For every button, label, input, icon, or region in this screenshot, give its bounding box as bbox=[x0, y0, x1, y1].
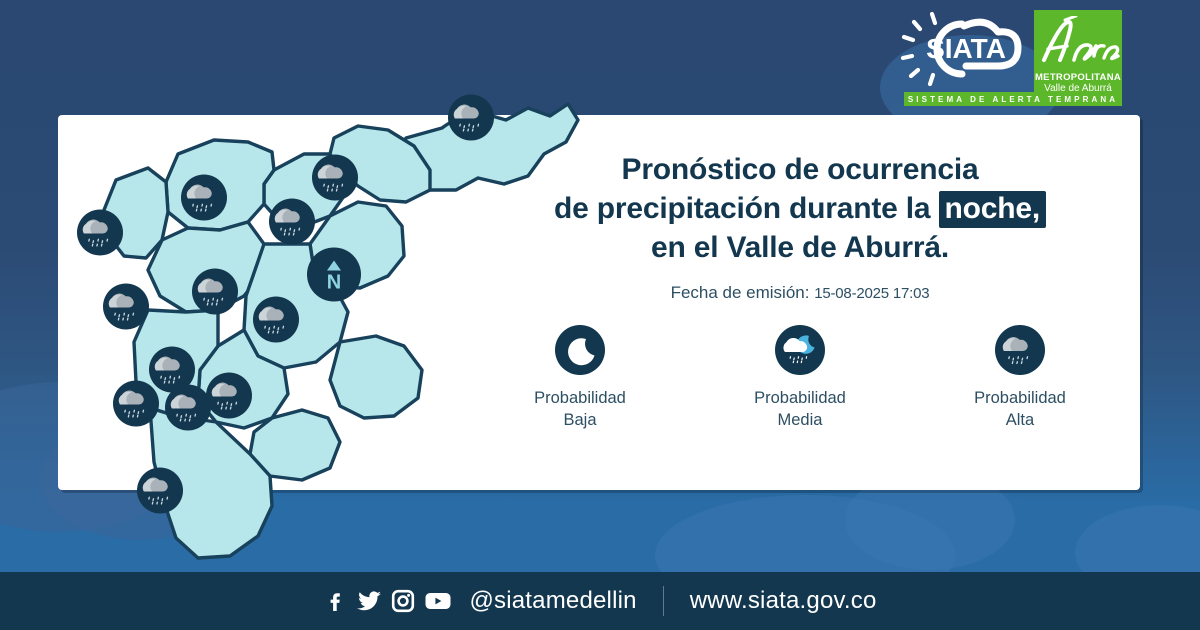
siata-tagline: SISTEMA DE ALERTA TEMPRANA bbox=[908, 95, 1118, 104]
issue-date-label: Fecha de emisión: bbox=[671, 283, 810, 302]
twitter-icon[interactable] bbox=[356, 589, 382, 613]
legend-item-alta: ProbabilidadAlta bbox=[910, 325, 1130, 431]
map-marker-barbosa[interactable] bbox=[448, 95, 494, 146]
map-marker-san-jeronimo[interactable] bbox=[77, 210, 123, 261]
area-line1: METROPOLITANA bbox=[1035, 72, 1121, 83]
siata-tagline-strip: SISTEMA DE ALERTA TEMPRANA bbox=[904, 92, 1122, 106]
social-icons bbox=[323, 589, 452, 613]
map-marker-girardota[interactable] bbox=[312, 155, 358, 206]
cloud-heavy-rain-icon bbox=[165, 385, 211, 431]
legend-item-baja: ProbabilidadBaja bbox=[470, 325, 690, 431]
legend-item-media: ProbabilidadMedia bbox=[690, 325, 910, 431]
social-handle[interactable]: @siatamedellin bbox=[469, 587, 636, 615]
headline-line2: de precipitación durante la noche, bbox=[470, 189, 1130, 228]
headline-block: Pronóstico de ocurrencia de precipitació… bbox=[470, 150, 1130, 303]
headline-highlight: noche, bbox=[939, 191, 1046, 228]
legend-label-alta: ProbabilidadAlta bbox=[974, 387, 1066, 431]
map-marker-ebejico[interactable] bbox=[103, 284, 149, 335]
map-marker-caldas[interactable] bbox=[137, 468, 183, 519]
cloud-heavy-rain-icon bbox=[253, 297, 299, 343]
footer-bar: @siatamedellin www.siata.gov.co bbox=[0, 572, 1200, 630]
north-label: N bbox=[327, 272, 341, 294]
cloud-heavy-rain-icon bbox=[448, 95, 494, 141]
legend-label-baja: ProbabilidadBaja bbox=[534, 387, 626, 431]
cloud-heavy-rain-icon bbox=[192, 269, 238, 315]
area-metropolitana-logo: METROPOLITANA Valle de Aburrá bbox=[1034, 10, 1122, 98]
legend-label-media: ProbabilidadMedia bbox=[754, 387, 846, 431]
instagram-icon[interactable] bbox=[391, 589, 415, 613]
map-marker-medellin[interactable] bbox=[253, 297, 299, 348]
map-marker-envigado[interactable] bbox=[206, 373, 252, 424]
facebook-icon[interactable] bbox=[323, 589, 347, 613]
footer-divider bbox=[663, 586, 664, 616]
cloud-heavy-rain-icon bbox=[113, 381, 159, 427]
website-url[interactable]: www.siata.gov.co bbox=[690, 587, 877, 615]
issue-date: Fecha de emisión: 15-08-2025 17:03 bbox=[470, 283, 1130, 303]
page-title: Pronóstico de ocurrencia de precipitació… bbox=[470, 150, 1130, 267]
cloud-heavy-rain-icon bbox=[77, 210, 123, 256]
issue-date-value: 15-08-2025 17:03 bbox=[814, 285, 929, 302]
map-marker-sabaneta[interactable] bbox=[165, 385, 211, 436]
siata-logo: SIATA bbox=[900, 10, 1028, 88]
cloud-heavy-rain-icon bbox=[103, 284, 149, 330]
siata-wordmark: SIATA bbox=[926, 33, 1006, 64]
headline-line1: Pronóstico de ocurrencia bbox=[470, 150, 1130, 189]
map-marker-la-estrella[interactable] bbox=[113, 381, 159, 432]
municipality-envigado bbox=[330, 336, 422, 418]
cloud-heavy-rain-icon bbox=[206, 373, 252, 419]
cloud-heavy-rain-icon bbox=[312, 155, 358, 201]
headline-line3: en el Valle de Aburrá. bbox=[470, 228, 1130, 267]
probability-legend: ProbabilidadBaja ProbabilidadMedia Proba… bbox=[470, 325, 1130, 431]
cloud-heavy-rain-icon bbox=[181, 175, 227, 221]
map-marker-bello[interactable] bbox=[192, 269, 238, 320]
map-marker-san-pedro[interactable] bbox=[181, 175, 227, 226]
map-marker-copacabana[interactable] bbox=[269, 199, 315, 250]
area-script-icon bbox=[1034, 16, 1122, 68]
cloud-heavy-rain-icon bbox=[269, 199, 315, 245]
cloud-heavy-rain-icon bbox=[995, 325, 1045, 375]
cloud-moon-rain-icon bbox=[775, 325, 825, 375]
moon-icon bbox=[555, 325, 605, 375]
cloud-heavy-rain-icon bbox=[137, 468, 183, 514]
infographic-root: SIATA METROPOLITANA Valle de Aburrá SIST… bbox=[0, 0, 1200, 630]
youtube-icon[interactable] bbox=[424, 589, 452, 613]
headline-line2-text: de precipitación durante la bbox=[554, 192, 930, 225]
north-arrow-icon: N bbox=[307, 248, 361, 307]
